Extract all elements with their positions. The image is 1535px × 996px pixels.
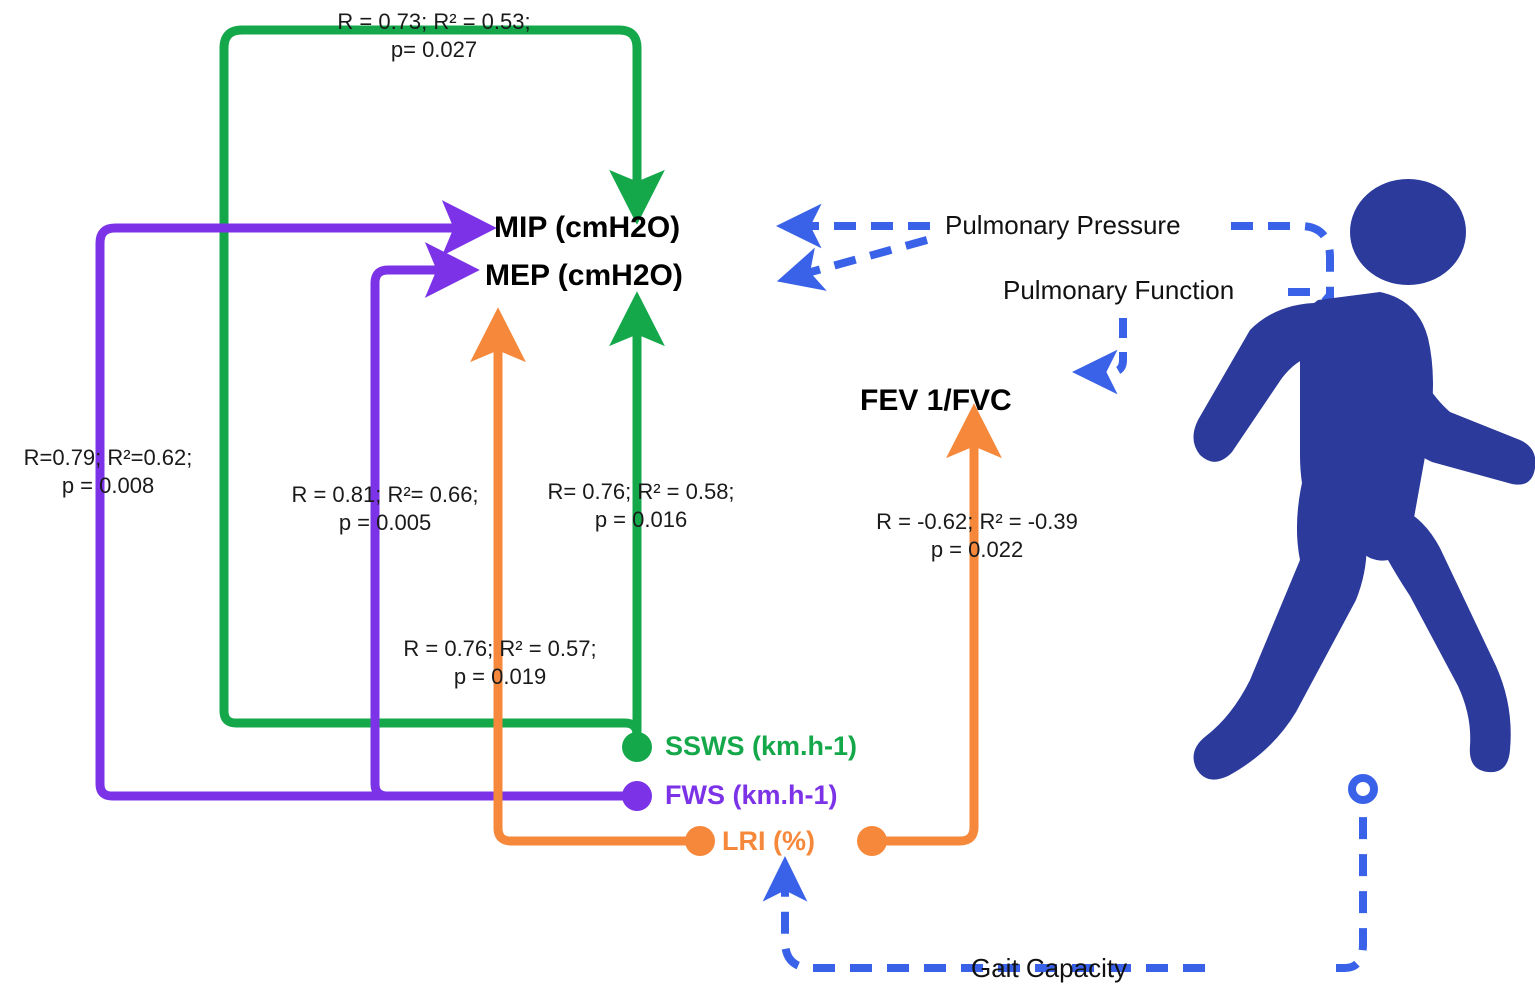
node-mep[interactable]: MEP (cmH2O) [485, 261, 683, 291]
edge-lri-to-fev [872, 432, 974, 841]
stat-ssws-to-mip: R = 0.73; R² = 0.53; p= 0.027 [309, 8, 559, 64]
node-mip[interactable]: MIP (cmH2O) [494, 213, 680, 243]
node-lri[interactable]: LRI (%) [722, 828, 815, 855]
edge-lri-to-mep [498, 336, 700, 841]
annotation-function-arrow [1096, 318, 1123, 372]
annotation-gait-to-figure [1336, 806, 1363, 968]
figure-head [1350, 179, 1466, 285]
stat-fws-to-mip: R=0.79; R²=0.62; p = 0.008 [8, 444, 208, 500]
figure-leg-front [1372, 508, 1511, 772]
stat-lri-to-fev: R = -0.62; R² = -0.39 p = 0.022 [861, 508, 1093, 564]
stat-fws-to-mep: R = 0.81; R²= 0.66; p = 0.005 [276, 481, 494, 537]
walking-person-pictogram [1193, 179, 1535, 780]
annotation-pressure-to-mep [800, 240, 927, 275]
annotation-pressure-to-figure [1231, 226, 1330, 300]
foot-sensor-icon [1352, 778, 1374, 800]
node-ssws[interactable]: SSWS (km.h-1) [665, 733, 857, 760]
stat-ssws-to-mep: R= 0.76; R² = 0.58; p = 0.016 [533, 478, 749, 534]
figure-leg-back [1194, 470, 1367, 780]
figure-canvas: MIP (cmH2O) MEP (cmH2O) FEV 1/FVC SSWS (… [0, 0, 1535, 996]
stat-lri-to-mep: R = 0.76; R² = 0.57; p = 0.019 [386, 635, 614, 691]
annotation-gait-capacity[interactable]: Gait Capacity [971, 955, 1127, 981]
annotation-pulmonary-function[interactable]: Pulmonary Function [1003, 277, 1234, 303]
node-fev1-fvc[interactable]: FEV 1/FVC [860, 386, 1012, 416]
node-fws[interactable]: FWS (km.h-1) [665, 782, 838, 809]
annotation-pulmonary-pressure[interactable]: Pulmonary Pressure [945, 212, 1181, 238]
